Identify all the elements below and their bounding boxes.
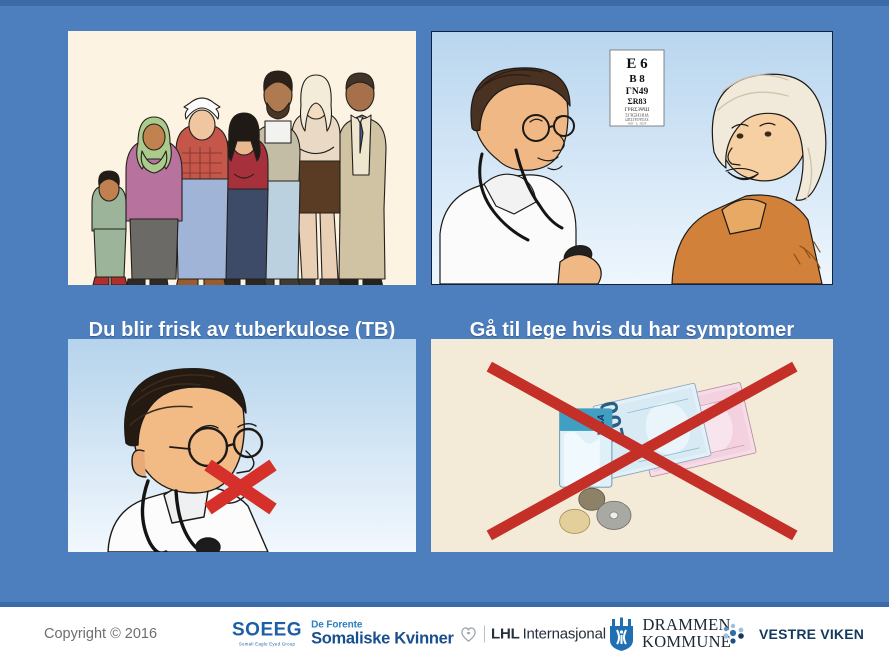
poster-root: Du blir frisk av tuberkulose (TB) (0, 0, 889, 660)
logo-soeeg[interactable]: SOEEG Somali Eagle Eyed Group De Forente… (232, 620, 454, 647)
drammen-coat-of-arms-icon (608, 617, 635, 651)
svg-text:E 6: E 6 (626, 56, 648, 72)
lhl-subword: Internasjonal (523, 625, 606, 642)
logo-lhl-internasjonal[interactable]: LHL Internasjonal (459, 624, 606, 643)
svg-text:ΣΓRΞH3ШΔ: ΣΓRΞH3ШΔ (625, 113, 649, 118)
soeeg-line2: Somaliske Kvinner (311, 630, 454, 647)
doctor-with-red-cross-over-mouth-illustration (68, 339, 416, 552)
soeeg-wordmark: SOEEG (232, 620, 302, 639)
lhl-heart-icon (459, 624, 478, 643)
copyright-text: Copyright © 2016 (44, 626, 157, 642)
logo-drammen-kommune[interactable]: DRAMMEN KOMMUNE (608, 617, 731, 651)
soeeg-mark: SOEEG Somali Eagle Eyed Group (232, 620, 302, 646)
drammen-wordmark: DRAMMEN KOMMUNE (642, 617, 731, 650)
footer: Copyright © 2016 SOEEG Somali Eagle Eyed… (0, 607, 889, 660)
logo-vestre-viken[interactable]: VESTRE VIKEN (722, 621, 864, 647)
svg-text:B 8: B 8 (629, 73, 645, 85)
doctor-and-patient-illustration: E 6 B 8 ΓN49 ΣR83 ΓPRΣ3ΨШ ΣΓRΞH3ШΔ ΩΠΣΓΡ… (431, 31, 833, 285)
lhl-divider (484, 625, 485, 642)
drammen-line2: KOMMUNE (642, 634, 731, 651)
lhl-wordmark: LHL (491, 625, 520, 642)
group-of-people-illustration (68, 31, 416, 285)
panel-grid: Du blir frisk av tuberkulose (TB) (0, 0, 889, 602)
vestre-viken-dots-icon (722, 621, 752, 647)
money-crossed-out-illustration: 100 200 (431, 339, 833, 552)
panel-ga-til-lege[interactable]: E 6 B 8 ΓN49 ΣR83 ΓPRΣ3ΨШ ΣΓRΞH3ШΔ ΩΠΣΓΡ… (431, 31, 833, 326)
soeeg-org-name: De Forente Somaliske Kvinner (311, 620, 454, 647)
soeeg-tagline: Somali Eagle Eyed Group (239, 641, 295, 646)
vestre-viken-wordmark: VESTRE VIKEN (759, 626, 864, 642)
svg-text:ΣR83: ΣR83 (627, 97, 646, 106)
panel-behandling-gratis[interactable]: 100 200 (431, 339, 833, 591)
svg-text:ΝΠΓ ·Σ ·ΠΞΨ: ΝΠΓ ·Σ ·ΠΞΨ (628, 122, 647, 126)
svg-text:ΓN49: ΓN49 (626, 87, 649, 97)
panel-tuberkulose[interactable]: Du blir frisk av tuberkulose (TB) (68, 31, 416, 326)
eye-chart: E 6 B 8 ΓN49 ΣR83 ΓPRΣ3ΨШ ΣΓRΞH3ШΔ ΩΠΣΓΡ… (610, 50, 664, 126)
panel-taushetsplikt[interactable]: Legen har taushetsplikt (68, 339, 416, 591)
